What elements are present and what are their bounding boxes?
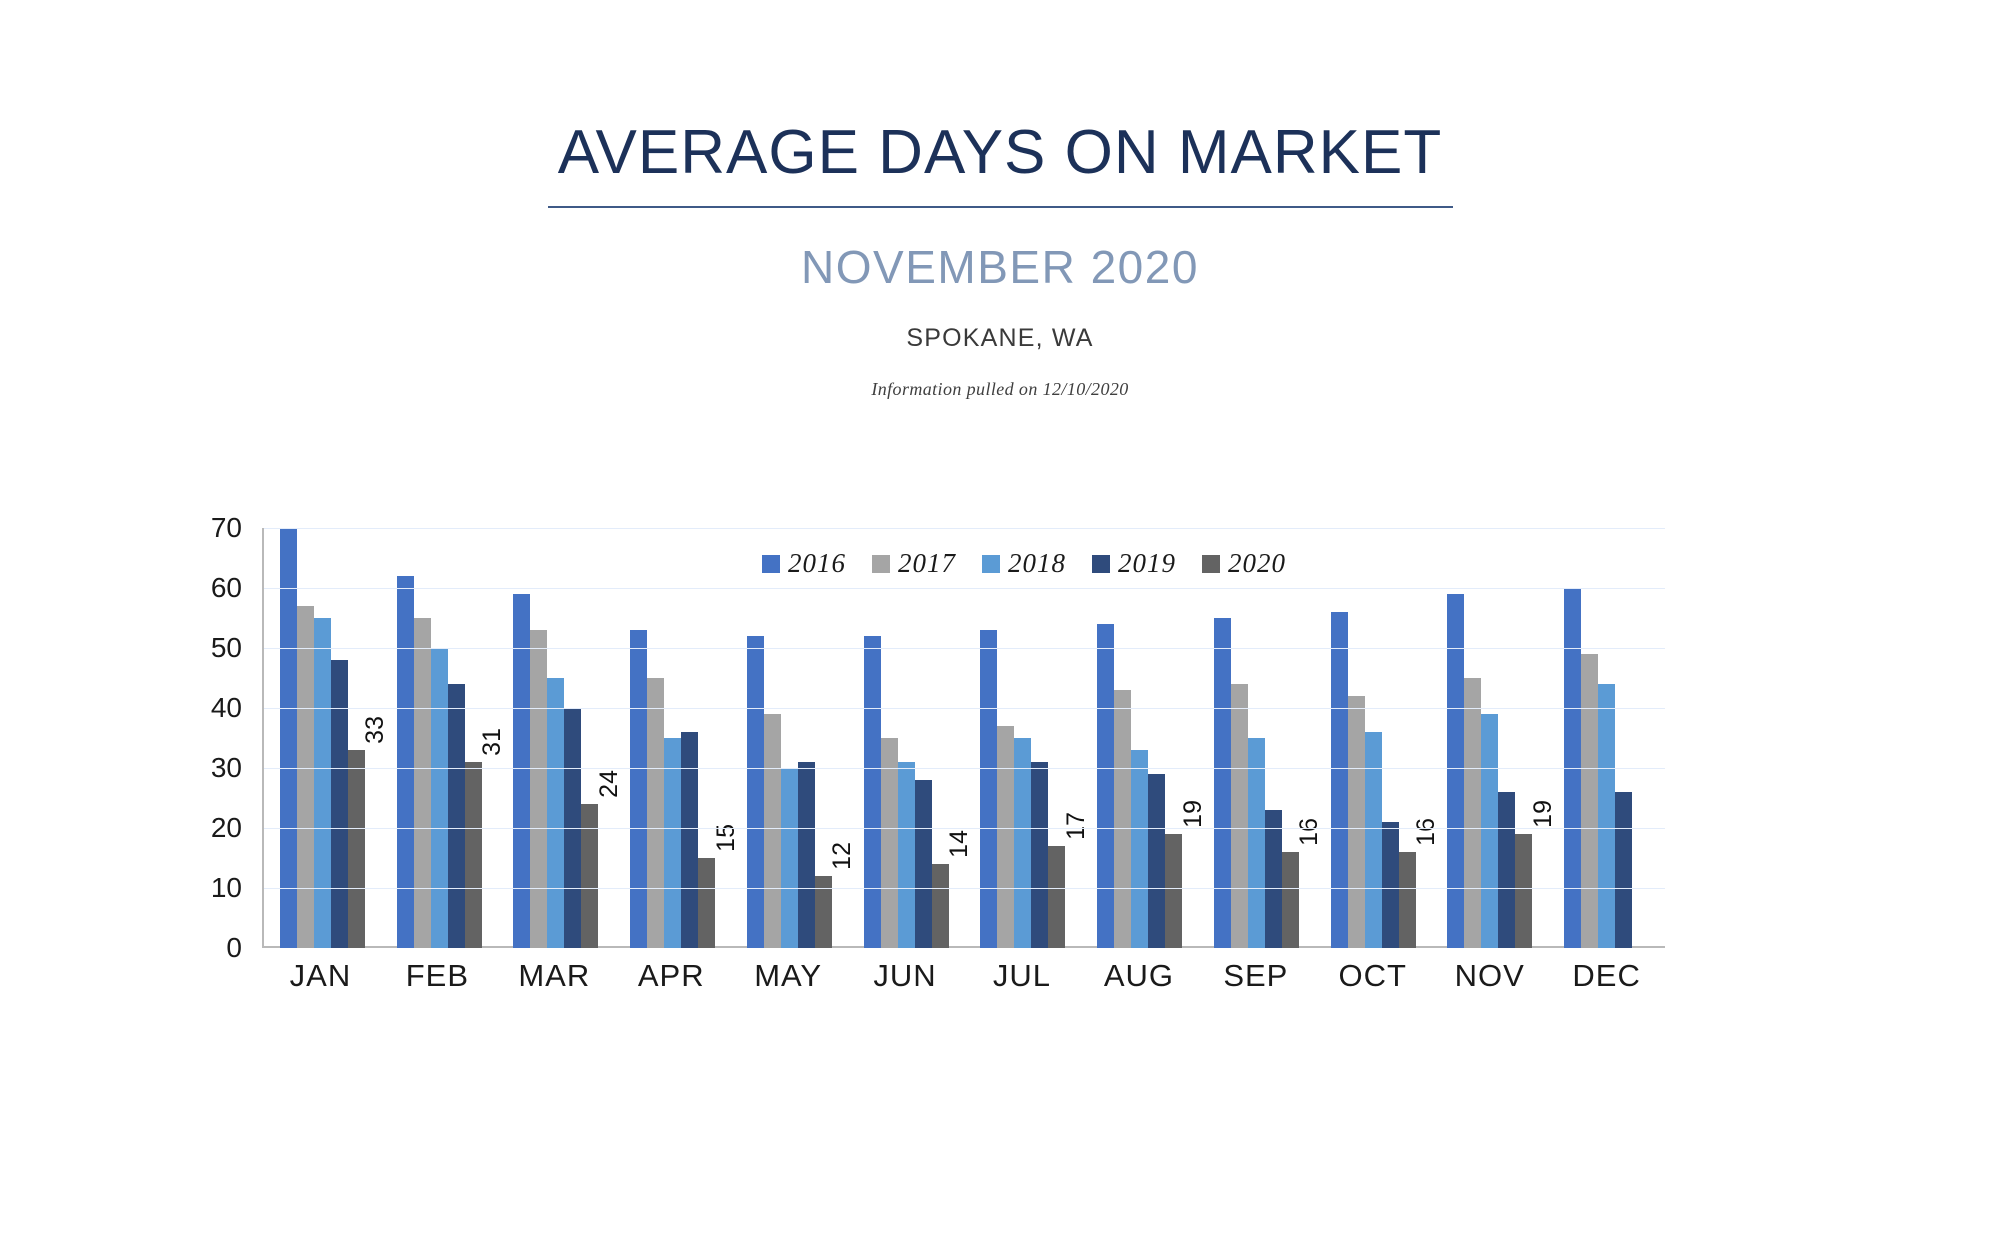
bar-aug-2019[interactable] bbox=[1148, 774, 1165, 948]
bar-fill bbox=[798, 762, 815, 948]
bar-jan-2017[interactable] bbox=[297, 606, 314, 948]
y-axis-tick-60: 60 bbox=[211, 572, 242, 604]
bar-fill bbox=[314, 618, 331, 948]
bar-fill bbox=[1014, 738, 1031, 948]
bar-mar-2017[interactable] bbox=[530, 630, 547, 948]
bar-sep-2020[interactable] bbox=[1282, 852, 1299, 948]
bar-jun-2019[interactable] bbox=[915, 780, 932, 948]
legend-swatch-icon-2018 bbox=[982, 555, 1000, 573]
bar-feb-2020[interactable] bbox=[465, 762, 482, 948]
bar-group-apr: 15 bbox=[614, 528, 731, 948]
bar-fill bbox=[1114, 690, 1131, 948]
bar-fill bbox=[1615, 792, 1632, 948]
legend-swatch-icon-2017 bbox=[872, 555, 890, 573]
bar-dec-2017[interactable] bbox=[1581, 654, 1598, 948]
bar-fill bbox=[1031, 762, 1048, 948]
bar-fill bbox=[1464, 678, 1481, 948]
bar-may-2020[interactable] bbox=[815, 876, 832, 948]
pulled-date-note: Information pulled on 12/10/2020 bbox=[0, 379, 2000, 400]
legend-item-2016[interactable]: 2016 bbox=[762, 548, 846, 579]
bar-jan-2016[interactable] bbox=[280, 528, 297, 948]
bar-fill bbox=[280, 528, 297, 948]
bar-fill bbox=[1399, 852, 1416, 948]
bar-fill bbox=[664, 738, 681, 948]
bar-sep-2019[interactable] bbox=[1265, 810, 1282, 948]
bar-feb-2019[interactable] bbox=[448, 684, 465, 948]
y-axis-tick-20: 20 bbox=[211, 812, 242, 844]
bar-fill bbox=[297, 606, 314, 948]
y-axis-tick-70: 70 bbox=[211, 512, 242, 544]
bar-fill bbox=[348, 750, 365, 948]
legend-item-2018[interactable]: 2018 bbox=[982, 548, 1066, 579]
y-axis-tick-30: 30 bbox=[211, 752, 242, 784]
x-axis-label-nov: NOV bbox=[1431, 958, 1548, 1008]
legend-label-2018: 2018 bbox=[1008, 548, 1066, 579]
x-axis-label-dec: DEC bbox=[1548, 958, 1665, 1008]
bar-jun-2020[interactable] bbox=[932, 864, 949, 948]
x-axis-label-jul: JUL bbox=[964, 958, 1081, 1008]
legend-item-2019[interactable]: 2019 bbox=[1092, 548, 1176, 579]
bar-aug-2018[interactable] bbox=[1131, 750, 1148, 948]
bar-apr-2018[interactable] bbox=[664, 738, 681, 948]
x-axis-label-apr: APR bbox=[613, 958, 730, 1008]
bar-oct-2018[interactable] bbox=[1365, 732, 1382, 948]
plot-area: 3331241512141719161619 bbox=[262, 528, 1665, 948]
bar-aug-2020[interactable] bbox=[1165, 834, 1182, 948]
gridline-70 bbox=[264, 528, 1665, 529]
bar-fill bbox=[1148, 774, 1165, 948]
bar-fill bbox=[764, 714, 781, 948]
bar-group-feb: 31 bbox=[381, 528, 498, 948]
chart-legend: 20162017201820192020 bbox=[762, 548, 1286, 579]
bar-fill bbox=[781, 768, 798, 948]
bar-fill bbox=[864, 636, 881, 948]
bar-fill bbox=[1498, 792, 1515, 948]
bar-fill bbox=[1365, 732, 1382, 948]
x-axis-label-aug: AUG bbox=[1080, 958, 1197, 1008]
bar-nov-2017[interactable] bbox=[1464, 678, 1481, 948]
bar-fill bbox=[1481, 714, 1498, 948]
bar-fill bbox=[815, 876, 832, 948]
bar-jan-2018[interactable] bbox=[314, 618, 331, 948]
bar-fill bbox=[1581, 654, 1598, 948]
bar-apr-2020[interactable] bbox=[698, 858, 715, 948]
bar-group-nov: 19 bbox=[1432, 528, 1549, 948]
bar-aug-2016[interactable] bbox=[1097, 624, 1114, 948]
y-axis-tick-50: 50 bbox=[211, 632, 242, 664]
bar-fill bbox=[1348, 696, 1365, 948]
y-axis-tick-40: 40 bbox=[211, 692, 242, 724]
bar-fill bbox=[681, 732, 698, 948]
bar-aug-2017[interactable] bbox=[1114, 690, 1131, 948]
bar-fill bbox=[1214, 618, 1231, 948]
bar-group-jun: 14 bbox=[848, 528, 965, 948]
bar-group-may: 12 bbox=[731, 528, 848, 948]
bar-fill bbox=[747, 636, 764, 948]
bar-fill bbox=[1598, 684, 1615, 948]
bar-fill bbox=[1165, 834, 1182, 948]
x-axis-label-oct: OCT bbox=[1314, 958, 1431, 1008]
bar-fill bbox=[647, 678, 664, 948]
bar-group-jul: 17 bbox=[965, 528, 1082, 948]
bar-dec-2018[interactable] bbox=[1598, 684, 1615, 948]
bar-apr-2017[interactable] bbox=[647, 678, 664, 948]
bar-oct-2020[interactable] bbox=[1399, 852, 1416, 948]
bar-oct-2016[interactable] bbox=[1331, 612, 1348, 948]
legend-item-2020[interactable]: 2020 bbox=[1202, 548, 1286, 579]
bar-fill bbox=[1231, 684, 1248, 948]
bar-feb-2016[interactable] bbox=[397, 576, 414, 948]
bar-nov-2018[interactable] bbox=[1481, 714, 1498, 948]
page-subtitle: NOVEMBER 2020 bbox=[0, 240, 2000, 294]
bar-fill bbox=[465, 762, 482, 948]
title-underline bbox=[548, 206, 1453, 208]
bar-apr-2016[interactable] bbox=[630, 630, 647, 948]
y-axis-tick-10: 10 bbox=[211, 872, 242, 904]
bar-fill bbox=[980, 630, 997, 948]
bar-group-sep: 16 bbox=[1198, 528, 1315, 948]
legend-swatch-icon-2016 bbox=[762, 555, 780, 573]
bar-sep-2016[interactable] bbox=[1214, 618, 1231, 948]
bar-group-dec bbox=[1548, 528, 1665, 948]
page-title: AVERAGE DAYS ON MARKET bbox=[0, 122, 2000, 184]
bar-may-2017[interactable] bbox=[764, 714, 781, 948]
legend-swatch-icon-2019 bbox=[1092, 555, 1110, 573]
x-axis-labels: JANFEBMARAPRMAYJUNJULAUGSEPOCTNOVDEC bbox=[262, 958, 1665, 1008]
gridline-30 bbox=[264, 768, 1665, 769]
bar-oct-2017[interactable] bbox=[1348, 696, 1365, 948]
bar-fill bbox=[1515, 834, 1532, 948]
bar-mar-2020[interactable] bbox=[581, 804, 598, 948]
bar-fill bbox=[1382, 822, 1399, 948]
bar-fill bbox=[414, 618, 431, 948]
bar-fill bbox=[915, 780, 932, 948]
bar-oct-2019[interactable] bbox=[1382, 822, 1399, 948]
bar-mar-2018[interactable] bbox=[547, 678, 564, 948]
bar-group-jan: 33 bbox=[264, 528, 381, 948]
bar-fill bbox=[881, 738, 898, 948]
bar-jul-2019[interactable] bbox=[1031, 762, 1048, 948]
bar-jul-2020[interactable] bbox=[1048, 846, 1065, 948]
x-axis-label-jan: JAN bbox=[262, 958, 379, 1008]
bar-sep-2017[interactable] bbox=[1231, 684, 1248, 948]
bar-nov-2019[interactable] bbox=[1498, 792, 1515, 948]
bar-apr-2019[interactable] bbox=[681, 732, 698, 948]
bar-dec-2019[interactable] bbox=[1615, 792, 1632, 948]
bar-feb-2018[interactable] bbox=[431, 648, 448, 948]
bar-fill bbox=[431, 648, 448, 948]
bar-fill bbox=[1265, 810, 1282, 948]
x-axis-label-feb: FEB bbox=[379, 958, 496, 1008]
bar-fill bbox=[630, 630, 647, 948]
x-axis-label-jun: JUN bbox=[847, 958, 964, 1008]
bar-fill bbox=[547, 678, 564, 948]
bar-jun-2018[interactable] bbox=[898, 762, 915, 948]
x-axis-label-mar: MAR bbox=[496, 958, 613, 1008]
gridline-50 bbox=[264, 648, 1665, 649]
bar-jan-2020[interactable] bbox=[348, 750, 365, 948]
x-axis-label-sep: SEP bbox=[1197, 958, 1314, 1008]
bar-fill bbox=[698, 858, 715, 948]
gridline-20 bbox=[264, 828, 1665, 829]
bar-jul-2016[interactable] bbox=[980, 630, 997, 948]
bar-fill bbox=[997, 726, 1014, 948]
bar-fill bbox=[1331, 612, 1348, 948]
x-axis-label-may: MAY bbox=[730, 958, 847, 1008]
legend-label-2017: 2017 bbox=[898, 548, 956, 579]
gridline-40 bbox=[264, 708, 1665, 709]
legend-label-2016: 2016 bbox=[788, 548, 846, 579]
legend-item-2017[interactable]: 2017 bbox=[872, 548, 956, 579]
bar-sep-2018[interactable] bbox=[1248, 738, 1265, 948]
location-label: SPOKANE, WA bbox=[0, 324, 2000, 353]
bar-fill bbox=[898, 762, 915, 948]
bar-group-mar: 24 bbox=[498, 528, 615, 948]
bar-jul-2017[interactable] bbox=[997, 726, 1014, 948]
bar-chart: 706050403020100 3331241512141719161619 J… bbox=[200, 528, 1810, 948]
bar-groups: 3331241512141719161619 bbox=[264, 528, 1665, 948]
gridline-10 bbox=[264, 888, 1665, 889]
legend-label-2020: 2020 bbox=[1228, 548, 1286, 579]
bar-fill bbox=[1248, 738, 1265, 948]
bar-fill bbox=[448, 684, 465, 948]
legend-swatch-icon-2020 bbox=[1202, 555, 1220, 573]
bar-jun-2017[interactable] bbox=[881, 738, 898, 948]
bar-may-2019[interactable] bbox=[798, 762, 815, 948]
bar-fill bbox=[331, 660, 348, 948]
bar-jul-2018[interactable] bbox=[1014, 738, 1031, 948]
bar-fill bbox=[932, 864, 949, 948]
bar-jun-2016[interactable] bbox=[864, 636, 881, 948]
bar-may-2016[interactable] bbox=[747, 636, 764, 948]
bar-feb-2017[interactable] bbox=[414, 618, 431, 948]
chart-header: AVERAGE DAYS ON MARKET NOVEMBER 2020 SPO… bbox=[0, 0, 2000, 400]
bar-fill bbox=[1097, 624, 1114, 948]
bar-fill bbox=[530, 630, 547, 948]
y-axis: 706050403020100 bbox=[200, 528, 252, 948]
bar-fill bbox=[1131, 750, 1148, 948]
bar-nov-2020[interactable] bbox=[1515, 834, 1532, 948]
bar-group-aug: 19 bbox=[1081, 528, 1198, 948]
gridline-60 bbox=[264, 588, 1665, 589]
legend-label-2019: 2019 bbox=[1118, 548, 1176, 579]
y-axis-tick-0: 0 bbox=[226, 932, 242, 964]
bar-fill bbox=[397, 576, 414, 948]
bar-fill bbox=[1282, 852, 1299, 948]
bar-may-2018[interactable] bbox=[781, 768, 798, 948]
bar-jan-2019[interactable] bbox=[331, 660, 348, 948]
bar-group-oct: 16 bbox=[1315, 528, 1432, 948]
bar-fill bbox=[581, 804, 598, 948]
bar-fill bbox=[1048, 846, 1065, 948]
